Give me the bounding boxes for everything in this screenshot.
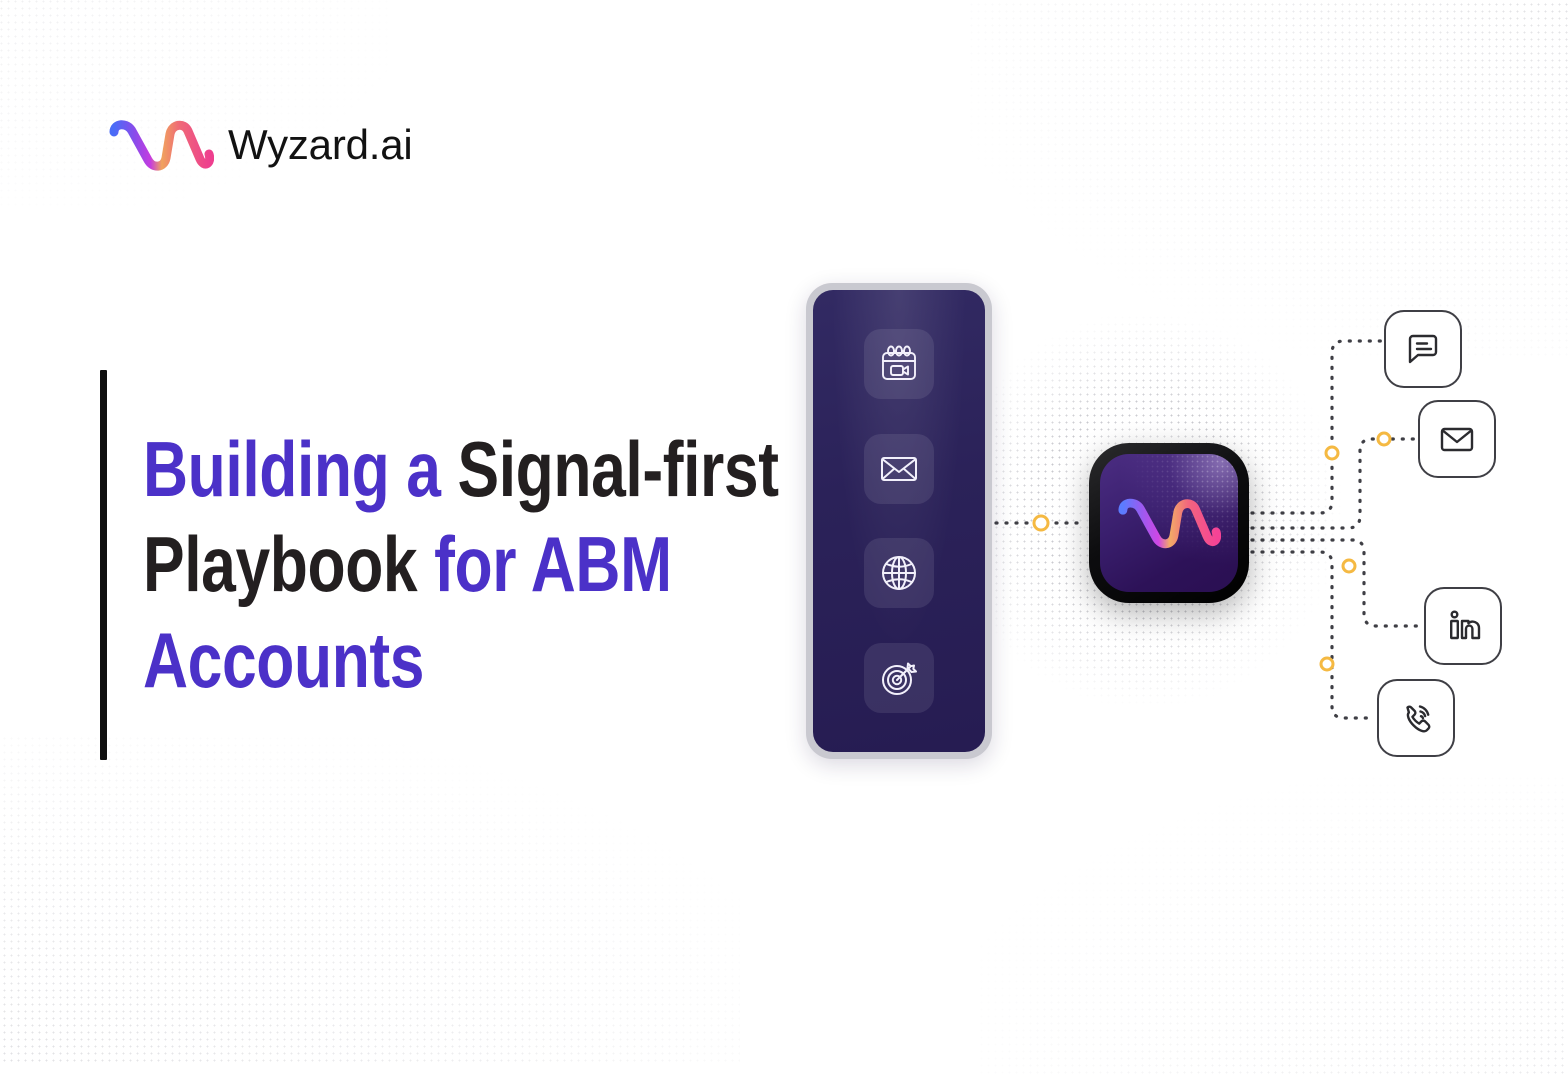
headline-line-1: Building a Signal-first [143,422,779,517]
connector-hub-to-chat [1252,341,1382,513]
connector-node-email-branch [1378,433,1390,445]
connector-hub-to-linkedin [1252,540,1422,626]
wave-logo-icon [1117,492,1221,554]
chat-channel[interactable] [1384,310,1462,388]
dot-pattern-bottom-left [0,735,740,1065]
wyzard-hub-tile[interactable] [1089,443,1249,603]
linkedin-icon [1441,604,1485,648]
phone-ring-icon [1394,696,1438,740]
envelope-icon [1435,417,1479,461]
headline-line-2: Playbook for ABM [143,517,779,612]
connector-node-linkedin-branch [1343,560,1355,572]
chat-bubble-icon [1401,327,1445,371]
connector-hub-to-email [1252,439,1416,528]
brand-name: Wyzard.ai [228,124,413,166]
hub-screen [1100,454,1238,592]
connector-node-hub-input [1034,516,1048,530]
email-channel[interactable] [1418,400,1496,478]
phone-channel[interactable] [1377,679,1455,757]
connector-node-chat-branch [1326,447,1338,459]
connector-node-phone-branch [1321,658,1333,670]
headline-line1-dark: Signal-first [458,425,779,513]
connector-hub-to-phone [1252,552,1375,718]
headline-line-3: Accounts [143,613,779,708]
dot-pattern-top-right [968,0,1568,360]
dot-pattern-top-left [0,0,390,210]
headline-line2-accent: for ABM [434,520,672,608]
headline-line1-accent: Building a [143,425,458,513]
linkedin-channel[interactable] [1424,587,1502,665]
headline-line2-dark: Playbook [143,520,434,608]
headline-accent-bar [100,370,107,760]
headline-block: Building a Signal-first Playbook for ABM… [100,370,938,760]
dot-pattern-bottom-right [978,775,1568,1075]
wave-logo-icon [108,114,214,176]
brand-logo: Wyzard.ai [108,114,413,176]
page-title: Building a Signal-first Playbook for ABM… [143,422,779,707]
